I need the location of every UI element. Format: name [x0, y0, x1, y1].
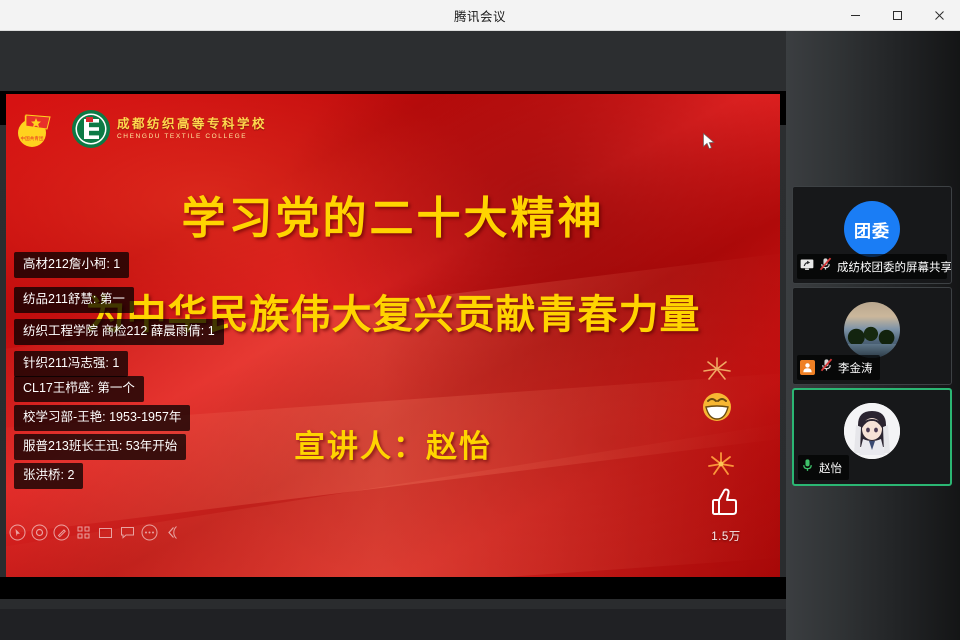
college-name-cn: 成都纺织高等专科学校 [117, 118, 267, 131]
annotation-toolbar[interactable] [4, 519, 185, 545]
mic-muted-icon [819, 257, 832, 276]
participant-label: 赵怡 [798, 455, 849, 480]
thumbs-up-reaction: 1.5万 [696, 483, 756, 544]
chengdu-textile-college-mark-icon [71, 109, 111, 149]
maximize-button[interactable] [876, 0, 918, 31]
slide-speaker: 宣讲人：赵怡 [6, 421, 780, 466]
text-bubble-tool[interactable] [118, 523, 137, 542]
letterbox-bottom [0, 577, 786, 599]
minimize-button[interactable] [834, 0, 876, 31]
more-tool[interactable] [140, 523, 159, 542]
avatar-initials: 团委 [854, 217, 890, 242]
thumbs-up-icon [707, 483, 745, 521]
communist-youth-league-emblem-icon: 中国共青团 [16, 109, 62, 149]
thumbs-up-count: 1.5万 [696, 528, 756, 544]
slide-subtitle: 为中华民族伟大复兴贡献青春力量 [6, 282, 780, 340]
select-pointer-tool[interactable] [8, 523, 27, 542]
shared-screen-stage[interactable]: 中国共青团 [0, 31, 786, 609]
participant-label: 成纺校团委的屏幕共享 [797, 254, 947, 279]
presentation-slide: 中国共青团 [6, 94, 780, 577]
participants-sidebar[interactable]: 团委 [786, 31, 960, 640]
pointer-dot-tool[interactable] [30, 523, 49, 542]
participant-tile-screenshare[interactable]: 团委 [792, 186, 952, 284]
avatar [844, 302, 900, 358]
avatar: 团委 [844, 201, 900, 257]
pencil-tool[interactable] [52, 523, 71, 542]
screen-share-icon [800, 258, 814, 276]
window-controls [834, 0, 960, 31]
college-logo: 成都纺织高等专科学校 CHENGDU TEXTILE COLLEGE [71, 109, 267, 149]
slide-title: 学习党的二十大精神 [6, 182, 780, 246]
slide-glow [277, 94, 780, 432]
participant-tile-lijintao[interactable]: 李金涛 [792, 287, 952, 385]
host-badge-icon [800, 360, 815, 375]
tencent-meeting-window: 腾讯会议 [0, 0, 960, 640]
participant-name: 赵怡 [819, 460, 842, 476]
college-name-en: CHENGDU TEXTILE COLLEGE [117, 134, 267, 141]
rectangle-tool[interactable] [96, 523, 115, 542]
title-bar: 腾讯会议 [0, 0, 960, 31]
slide-logos: 中国共青团 [16, 109, 267, 149]
svg-text:中国共青团: 中国共青团 [21, 135, 44, 142]
mic-active-icon [801, 458, 814, 477]
collapse-toolbar[interactable] [162, 523, 181, 542]
mosaic-tool[interactable] [74, 523, 93, 542]
participant-name: 李金涛 [838, 360, 873, 376]
avatar [844, 403, 900, 459]
participant-tile-zhaoyi[interactable]: 赵怡 [792, 388, 952, 486]
close-button[interactable] [918, 0, 960, 31]
participant-name: 成纺校团委的屏幕共享 [837, 259, 952, 275]
window-title: 腾讯会议 [454, 6, 506, 25]
mic-muted-icon [820, 358, 833, 377]
participant-label: 李金涛 [797, 355, 880, 380]
